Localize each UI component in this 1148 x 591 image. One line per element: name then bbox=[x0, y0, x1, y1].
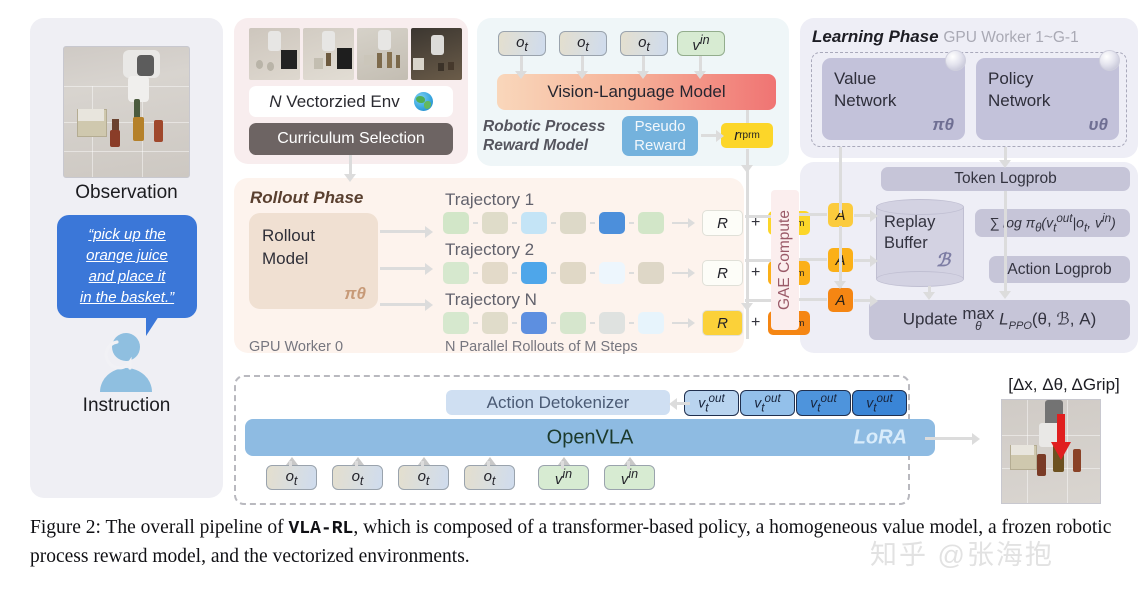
gpu-worker-label: GPU Worker 0 bbox=[249, 339, 343, 355]
arrow-tok1-head bbox=[515, 71, 527, 79]
value-network-box: Value Network πθ bbox=[822, 58, 965, 140]
trajectory-link bbox=[590, 222, 595, 224]
trajectory-1-label: Trajectory 1 bbox=[445, 190, 534, 210]
arrow-a-chain bbox=[839, 226, 842, 288]
trajectory-to-reward-arrow bbox=[672, 322, 688, 324]
sum-logprob-formula: ∑ log πθ(vtout|ot, vin) bbox=[975, 209, 1130, 237]
arrow-value-to-gae bbox=[839, 147, 842, 213]
arrow-tok4-head bbox=[694, 71, 706, 79]
trajectory-n-label: Trajectory N bbox=[445, 290, 537, 310]
instruction-line-1: “pick up the bbox=[65, 224, 189, 245]
action-delta-label: [Δx, Δθ, ΔGrip] bbox=[984, 375, 1144, 395]
action-logprob-band: Action Logprob bbox=[989, 256, 1130, 283]
snowflake-icon-policy bbox=[1099, 50, 1120, 71]
env-thumb-4 bbox=[411, 28, 462, 80]
arrow-env-to-rollout bbox=[349, 155, 352, 176]
arrow-token-to-update-head bbox=[999, 291, 1011, 299]
arrow-rollout-trajn-head bbox=[425, 299, 433, 311]
trajectory-step-cell bbox=[599, 312, 625, 334]
arrow-in2-up bbox=[352, 457, 364, 465]
token-logprob-band: Token Logprob bbox=[881, 167, 1130, 191]
arrow-in5-stem bbox=[561, 461, 564, 469]
trajectory-step-cell bbox=[638, 212, 664, 234]
reward-plus-sign: + bbox=[751, 264, 760, 282]
caption-model-name: VLA-RL bbox=[289, 519, 354, 539]
vision-language-model-bar: Vision-Language Model bbox=[497, 74, 776, 110]
arrow-in3-up bbox=[418, 457, 430, 465]
trajectory-step-cell bbox=[443, 212, 469, 234]
arrow-tok3-head bbox=[637, 71, 649, 79]
arrow-gae-a1 bbox=[799, 213, 827, 216]
lora-label: LoRA bbox=[854, 426, 907, 449]
trajectory-link bbox=[512, 222, 517, 224]
arrow-traj1-gae bbox=[745, 215, 771, 218]
arrow-rrprm-head bbox=[741, 165, 753, 173]
arrow-in4-up bbox=[484, 457, 496, 465]
robot-grasp-result-image bbox=[1001, 399, 1101, 504]
arrow-in6-stem bbox=[627, 461, 630, 469]
reward-R-box: R bbox=[702, 310, 743, 336]
update-args: (θ, ℬ, A) bbox=[1032, 309, 1096, 328]
openvla-label: OpenVLA bbox=[547, 426, 634, 449]
pseudo-reward-line-2: Reward bbox=[634, 136, 686, 155]
watermark: 知乎 @张海抱 bbox=[870, 533, 1054, 572]
rollout-model-symbol: πθ bbox=[344, 284, 366, 304]
trajectory-link bbox=[629, 322, 634, 324]
update-ppo-band: Update max θ LPPO(θ, ℬ, A) bbox=[869, 300, 1130, 340]
trajectory-link bbox=[473, 222, 478, 224]
arrow-gae-a2 bbox=[799, 258, 827, 261]
trajectory-step-cell bbox=[560, 312, 586, 334]
trajectory-step-cell bbox=[638, 312, 664, 334]
rollout-model-line-1: Rollout bbox=[262, 224, 315, 247]
gae-compute-label: GAE Compute bbox=[776, 210, 794, 310]
arrow-vout-to-detok-head bbox=[669, 398, 677, 410]
arrow-a3-replay-head bbox=[870, 295, 878, 307]
trajectory-step-cell bbox=[482, 312, 508, 334]
trajectory-step-cell bbox=[521, 262, 547, 284]
arrow-lora-to-result bbox=[925, 437, 975, 440]
value-network-symbol: πθ bbox=[932, 115, 954, 135]
policy-network-symbol: υθ bbox=[1088, 115, 1108, 135]
update-prefix: Update bbox=[903, 309, 958, 328]
arrow-rollout-traj2 bbox=[380, 267, 426, 270]
trajectory-link bbox=[512, 322, 517, 324]
arrow-rollout-traj2-head bbox=[425, 263, 433, 275]
trajectory-step-cell bbox=[599, 212, 625, 234]
openvla-bar: OpenVLA LoRA bbox=[245, 419, 935, 456]
instruction-line-4: in the basket.” bbox=[65, 287, 189, 308]
env-thumb-1 bbox=[249, 28, 300, 80]
env-thumb-2 bbox=[303, 28, 354, 80]
arrow-env-to-rollout-head bbox=[344, 174, 356, 182]
reward-R-box: R bbox=[702, 260, 743, 286]
arrow-a1-replay-head bbox=[870, 210, 878, 222]
trajectory-step-cell bbox=[482, 212, 508, 234]
arrow-pseudo-to-rrprm bbox=[701, 134, 717, 137]
trajectory-2-chain: R+Rrprm bbox=[443, 260, 810, 286]
grasp-direction-arrow-icon bbox=[1051, 414, 1071, 460]
robotic-process-reward-model-label: Robotic Process Reward Model bbox=[483, 117, 623, 155]
vlm-input-token-o1: ot bbox=[498, 31, 546, 56]
trajectory-1-chain: R+Rrprm bbox=[443, 210, 810, 236]
instruction-line-3: and place it bbox=[65, 266, 189, 287]
vectorized-env-box: N Vectorzied Env bbox=[249, 86, 453, 117]
rprm-line-1: Robotic Process bbox=[483, 117, 623, 136]
arrow-rollout-traj1-head bbox=[425, 226, 433, 238]
reward-plus-sign: + bbox=[751, 314, 760, 332]
arrow-tok2-head bbox=[576, 71, 588, 79]
replay-buffer-label: Replay Buffer bbox=[884, 212, 958, 254]
value-network-line-2: Network bbox=[834, 90, 896, 112]
arrow-gae-a3 bbox=[799, 298, 827, 301]
arrow-in3-stem bbox=[421, 461, 424, 469]
arrow-in1-stem bbox=[289, 461, 292, 469]
arrow-token-to-update bbox=[1004, 191, 1007, 296]
arrow-rollout-trajn bbox=[380, 303, 426, 306]
value-network-line-1: Value bbox=[834, 68, 896, 90]
trajectory-link bbox=[629, 222, 634, 224]
learning-phase-heading: Learning Phase bbox=[812, 27, 939, 46]
arrow-pseudo-head bbox=[716, 130, 724, 142]
trajectory-link bbox=[473, 272, 478, 274]
replay-buffer-symbol: ℬ bbox=[936, 250, 950, 271]
replay-buffer-line-1: Replay bbox=[884, 212, 958, 233]
pseudo-reward-line-1: Pseudo bbox=[634, 117, 686, 136]
rollout-model-box: Rollout Model πθ bbox=[249, 213, 378, 309]
learning-phase-title: Learning Phase GPU Worker 1~G-1 bbox=[812, 27, 1132, 47]
parallel-rollouts-note: N Parallel Rollouts of M Steps bbox=[445, 339, 638, 355]
snowflake-icon-value bbox=[945, 50, 966, 71]
caption-part-1: Figure 2: The overall pipeline of bbox=[30, 517, 289, 538]
vectorized-env-label: Vectorzied Env bbox=[286, 92, 399, 111]
arrow-a2-replay-head bbox=[870, 255, 878, 267]
trajectory-link bbox=[590, 322, 595, 324]
pseudo-reward-box: Pseudo Reward bbox=[622, 116, 698, 156]
trajectory-link bbox=[590, 272, 595, 274]
trajectory-2-label: Trajectory 2 bbox=[445, 240, 534, 260]
arrow-rollout-traj1 bbox=[380, 230, 426, 233]
trajectory-to-reward-arrow bbox=[672, 272, 688, 274]
instruction-line-2: orange juice bbox=[65, 245, 189, 266]
robot-scene-observation-image bbox=[63, 46, 190, 178]
arrow-lora-to-result-head bbox=[972, 433, 980, 445]
advantage-box-3: A bbox=[828, 288, 853, 312]
arrow-in4-stem bbox=[487, 461, 490, 469]
globe-icon bbox=[414, 92, 433, 111]
instruction-label: Instruction bbox=[30, 395, 223, 417]
trajectory-step-cell bbox=[482, 262, 508, 284]
trajectory-step-cell bbox=[521, 312, 547, 334]
openvla-output-token-1: vtout bbox=[684, 390, 739, 416]
arrow-in1-up bbox=[286, 457, 298, 465]
user-avatar-icon bbox=[90, 330, 162, 392]
openvla-output-token-3: vtout bbox=[796, 390, 851, 416]
curriculum-selection-button[interactable]: Curriculum Selection bbox=[249, 123, 453, 155]
trajectory-link bbox=[473, 322, 478, 324]
rollout-model-line-2: Model bbox=[262, 247, 315, 270]
arrow-replay-to-update-head bbox=[923, 292, 935, 300]
arrow-rrprm-head2 bbox=[741, 303, 753, 311]
learning-phase-subtitle: GPU Worker 1~G-1 bbox=[943, 29, 1078, 46]
env-thumb-3 bbox=[357, 28, 408, 80]
observation-label: Observation bbox=[30, 182, 223, 204]
trajectory-step-cell bbox=[443, 312, 469, 334]
action-detokenizer-bar: Action Detokenizer bbox=[446, 390, 670, 415]
trajectory-step-cell bbox=[599, 262, 625, 284]
arrow-policy-to-token-head bbox=[999, 160, 1011, 168]
trajectory-link bbox=[551, 322, 556, 324]
trajectory-link bbox=[551, 272, 556, 274]
trajectory-step-cell bbox=[560, 212, 586, 234]
arrow-in6-up bbox=[624, 457, 636, 465]
trajectory-step-cell bbox=[638, 262, 664, 284]
openvla-output-token-2: vtout bbox=[740, 390, 795, 416]
env-count-symbol: N bbox=[269, 92, 281, 111]
trajectory-step-cell bbox=[560, 262, 586, 284]
replay-buffer-cylinder-bottom bbox=[876, 271, 964, 287]
openvla-output-token-4: vtout bbox=[852, 390, 907, 416]
policy-network-box: Policy Network υθ bbox=[976, 58, 1119, 140]
rollout-phase-title: Rollout Phase bbox=[250, 188, 363, 208]
trajectory-link bbox=[629, 272, 634, 274]
gae-compute-block: GAE Compute bbox=[771, 190, 799, 330]
reward-R-box: R bbox=[702, 210, 743, 236]
vlm-input-token-vin: vin bbox=[677, 31, 725, 56]
arrow-in5-up bbox=[558, 457, 570, 465]
trajectory-link bbox=[551, 222, 556, 224]
policy-network-line-1: Policy bbox=[988, 68, 1050, 90]
arrow-in2-stem bbox=[355, 461, 358, 469]
arrow-a-chain-head bbox=[834, 281, 846, 289]
arrow-trajn-gae bbox=[745, 299, 771, 302]
vlm-input-token-o2: ot bbox=[559, 31, 607, 56]
arrow-vlm-to-rrprm bbox=[746, 110, 749, 123]
r-rprm-token: rrprm bbox=[721, 123, 773, 148]
arrow-traj2-gae bbox=[745, 259, 771, 262]
vlm-input-token-o3: ot bbox=[620, 31, 668, 56]
trajectory-n-chain: R+Rrprm bbox=[443, 310, 810, 336]
trajectory-to-reward-arrow bbox=[672, 222, 688, 224]
trajectory-link bbox=[512, 272, 517, 274]
instruction-bubble: “pick up the orange juice and place it i… bbox=[57, 215, 197, 318]
trajectory-step-cell bbox=[443, 262, 469, 284]
policy-network-line-2: Network bbox=[988, 90, 1050, 112]
trajectory-step-cell bbox=[521, 212, 547, 234]
rprm-line-2: Reward Model bbox=[483, 136, 623, 155]
